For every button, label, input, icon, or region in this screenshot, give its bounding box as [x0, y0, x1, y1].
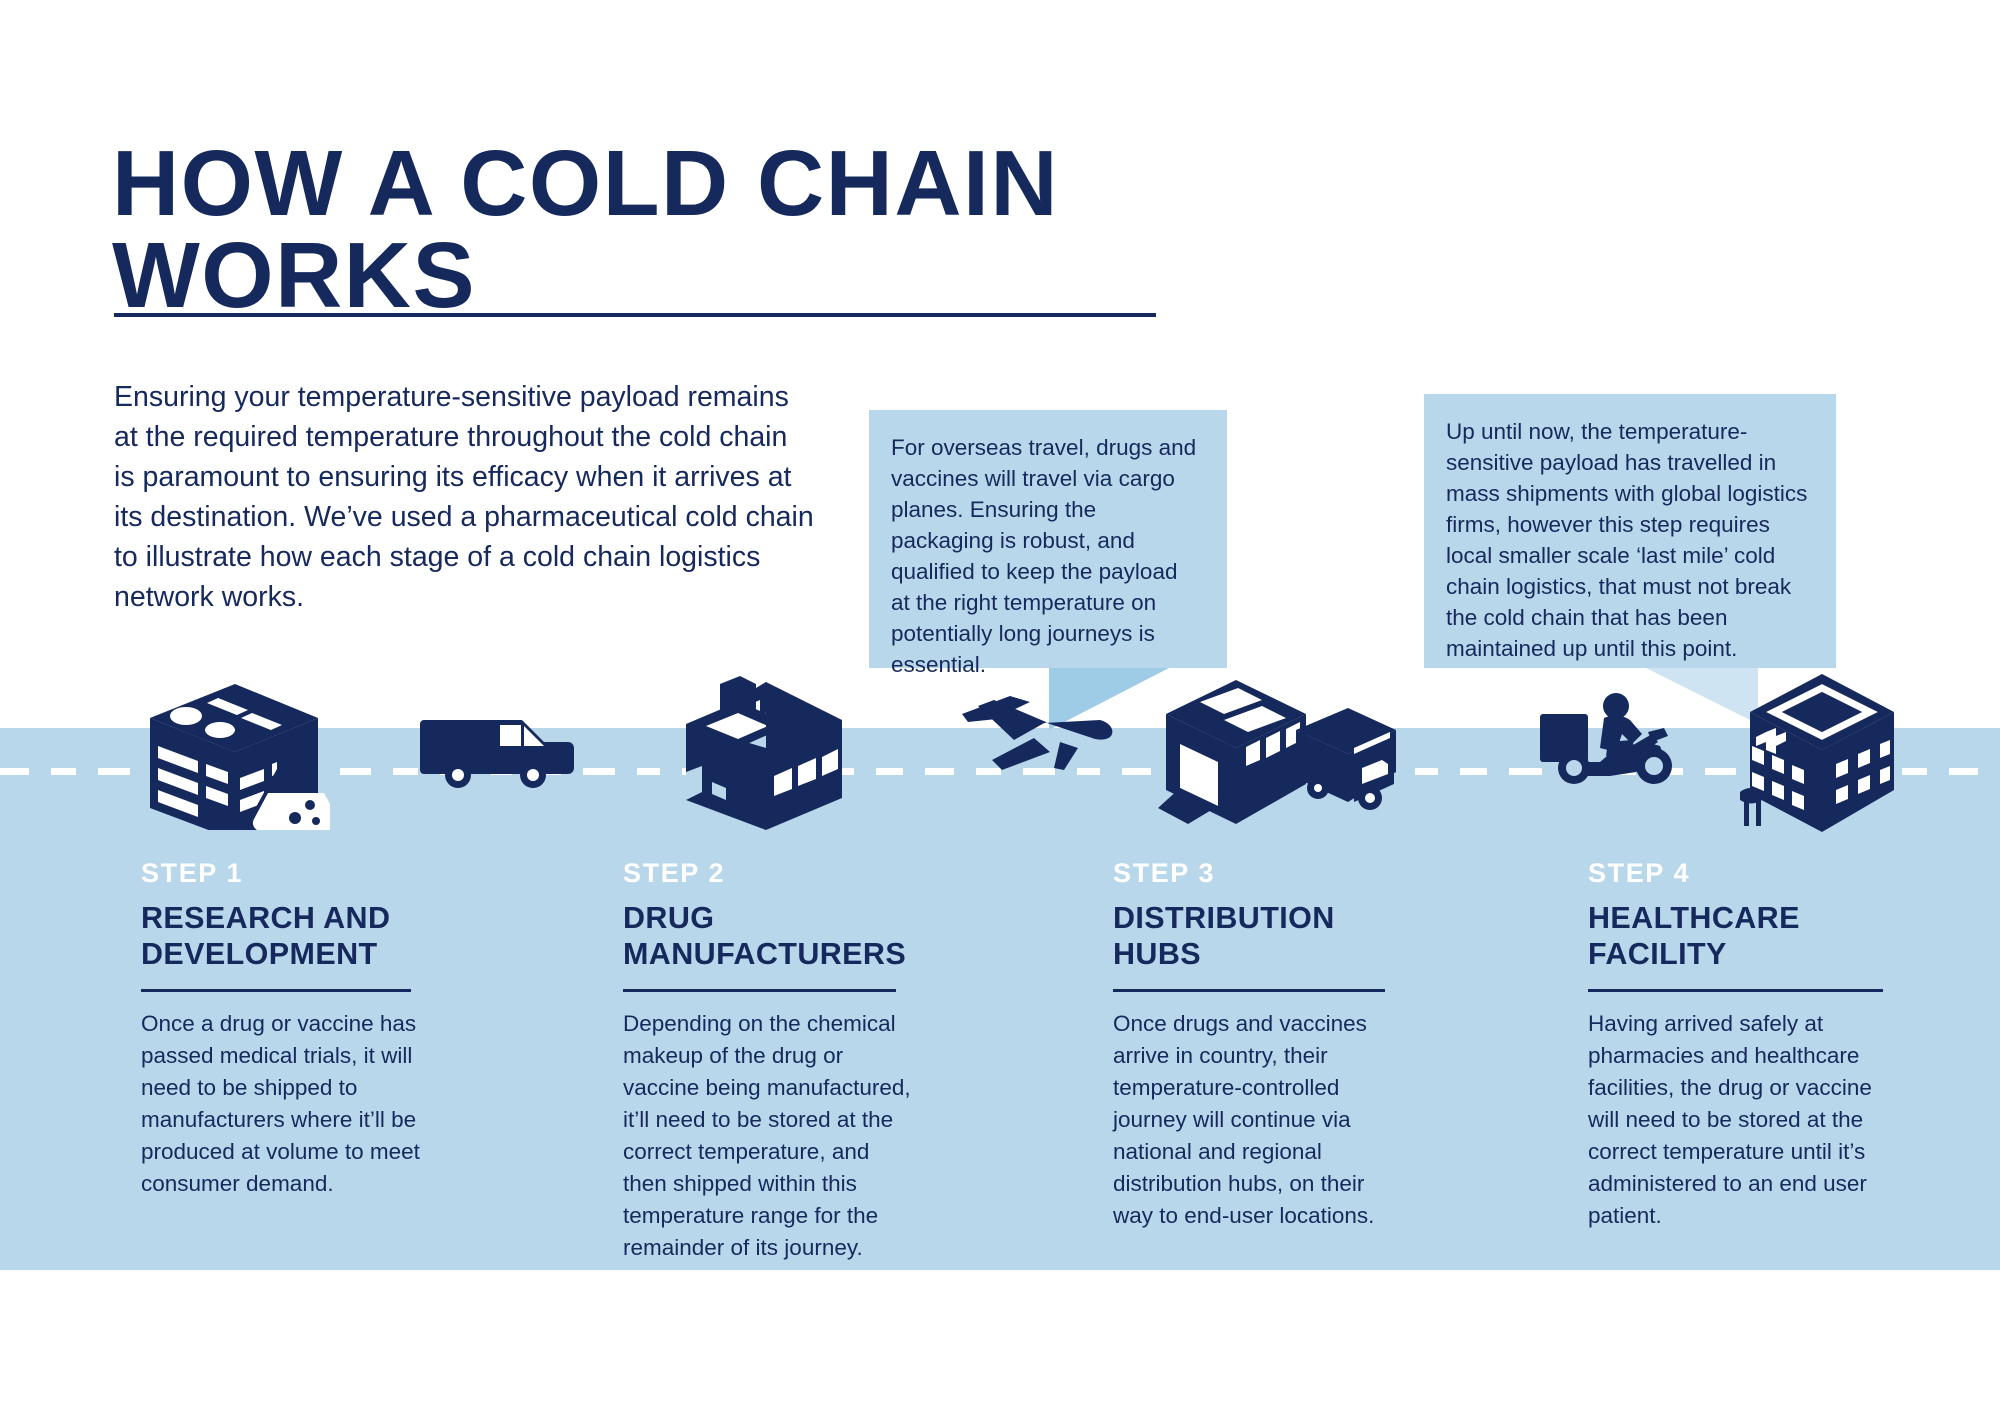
step-4-body: Having arrived safely at pharmacies and …: [1588, 1008, 1888, 1232]
footer: INTELSIUS™ A DGP COMPANY: [0, 1270, 2000, 1415]
step-3-title: DISTRIBUTION HUBS: [1113, 901, 1403, 972]
step-1-number: STEP 1: [141, 858, 431, 889]
step-2-title: DRUG MANUFACTURERS: [623, 901, 913, 972]
step-column-1: STEP 1 RESEARCH AND DEVELOPMENT Once a d…: [141, 858, 431, 1200]
research-building-flask-icon: [140, 680, 330, 835]
warehouse-truck-icon: [1158, 672, 1398, 839]
infographic-page: HOW A COLD CHAIN WORKS Ensuring your tem…: [0, 0, 2000, 1415]
callout-last-mile: Up until now, the temperature-sensitive …: [1424, 394, 1836, 668]
step-column-3: STEP 3 DISTRIBUTION HUBS Once drugs and …: [1113, 858, 1403, 1232]
callout-last-mile-text: Up until now, the temperature-sensitive …: [1446, 419, 1807, 661]
step-4-divider: [1588, 989, 1883, 992]
title-divider: [114, 313, 1156, 317]
page-title: HOW A COLD CHAIN WORKS: [112, 137, 1362, 321]
step-column-4: STEP 4 HEALTHCARE FACILITY Having arrive…: [1588, 858, 1888, 1232]
step-3-number: STEP 3: [1113, 858, 1403, 889]
step-1-title: RESEARCH AND DEVELOPMENT: [141, 901, 431, 972]
hospital-building-icon: [1736, 668, 1906, 841]
callout-air-freight-text: For overseas travel, drugs and vaccines …: [891, 435, 1196, 677]
step-column-2: STEP 2 DRUG MANUFACTURERS Depending on t…: [623, 858, 913, 1264]
intro-paragraph: Ensuring your temperature-sensitive payl…: [114, 377, 814, 618]
step-2-divider: [623, 989, 896, 992]
delivery-scooter-icon: [1536, 690, 1696, 807]
step-1-body: Once a drug or vaccine has passed medica…: [141, 1008, 431, 1200]
cargo-plane-icon: [950, 682, 1120, 807]
step-3-divider: [1113, 989, 1385, 992]
step-2-number: STEP 2: [623, 858, 913, 889]
step-1-divider: [141, 989, 411, 992]
callout-air-freight: For overseas travel, drugs and vaccines …: [869, 410, 1227, 668]
factory-icon: [668, 672, 848, 837]
delivery-van-icon: [420, 712, 580, 797]
step-4-number: STEP 4: [1588, 858, 1888, 889]
step-2-body: Depending on the chemical makeup of the …: [623, 1008, 913, 1264]
step-4-title: HEALTHCARE FACILITY: [1588, 901, 1888, 972]
step-3-body: Once drugs and vaccines arrive in countr…: [1113, 1008, 1403, 1232]
journey-icons-row: [0, 660, 2000, 830]
